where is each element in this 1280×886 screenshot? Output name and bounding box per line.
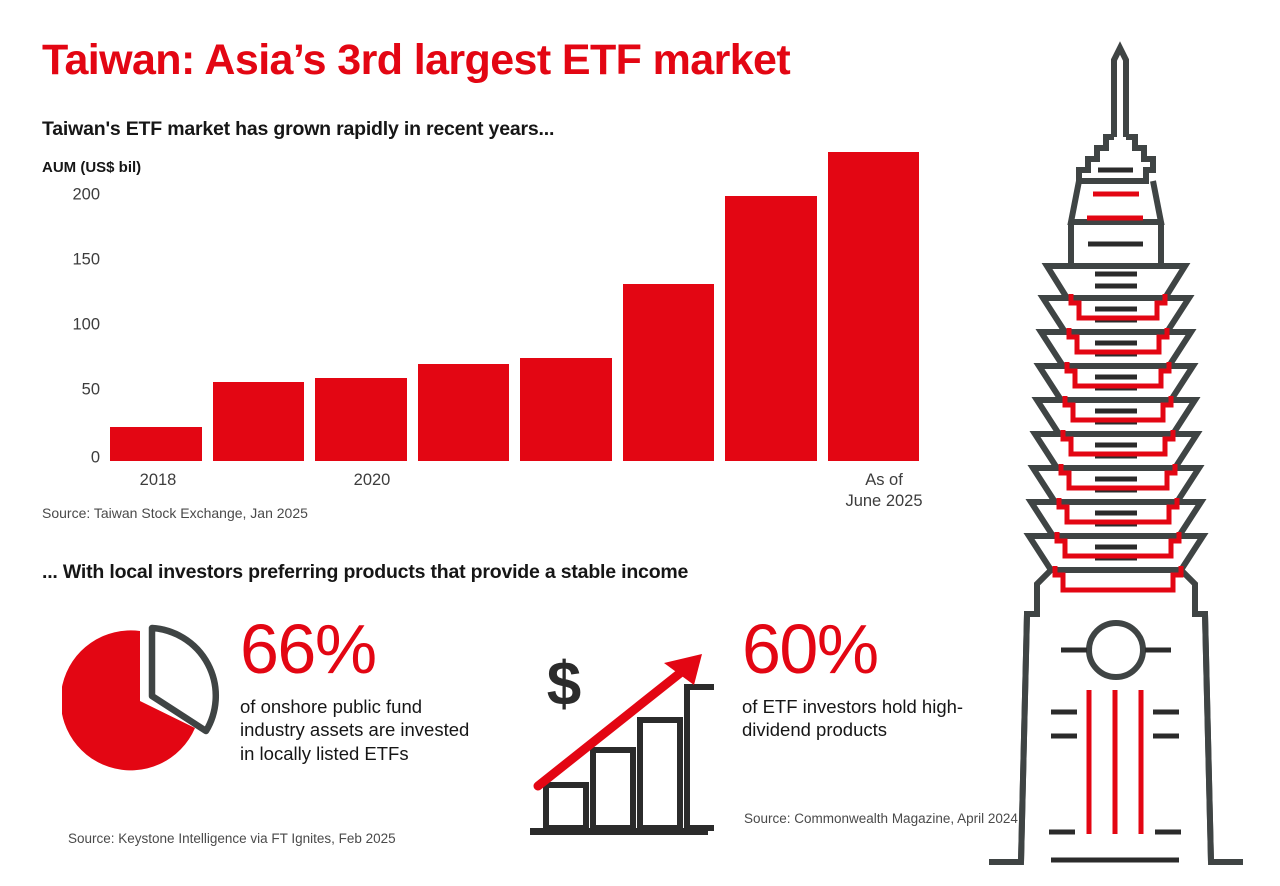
- stat-percent-66: 66%: [240, 616, 480, 683]
- stat-description-60: of ETF investors hold high-dividend prod…: [742, 695, 1002, 742]
- y-axis-title: AUM (US$ bil): [42, 159, 141, 176]
- stat-text-onshore-assets: 66% of onshore public fund industry asse…: [240, 616, 480, 766]
- tower-left-profile: [1021, 266, 1071, 862]
- infographic-page: Taiwan: Asia’s 3rd largest ETF market Ta…: [0, 0, 1280, 886]
- stat-text-high-dividend: 60% of ETF investors hold high-dividend …: [742, 616, 1002, 742]
- y-axis-tick-200: 200: [42, 186, 100, 205]
- y-axis-tick-0: 0: [42, 449, 100, 468]
- dollar-sign-icon: $: [547, 650, 581, 719]
- bar-2024: [725, 196, 817, 461]
- icon-bar-1: [546, 785, 586, 828]
- x-axis-tick-last-line1: As of: [820, 470, 948, 491]
- tower-base-circle: [1089, 623, 1143, 677]
- pie-chart-svg: [62, 618, 232, 788]
- stat-description-66: of onshore public fund industry assets a…: [240, 695, 480, 766]
- icon-bar-4: [687, 687, 714, 828]
- tower-spire: [1114, 48, 1126, 137]
- icon-bar-3: [640, 720, 680, 828]
- bar-2022: [520, 358, 612, 461]
- bar-2019: [213, 382, 305, 461]
- section-subtitle-income: ... With local investors preferring prod…: [42, 561, 688, 584]
- icon-bar-2: [593, 750, 633, 828]
- bar-as-of-june-2025: [828, 152, 920, 461]
- tower-base-red-lines: [1089, 690, 1141, 834]
- stat-percent-60: 60%: [742, 616, 1002, 683]
- bar-2021: [418, 364, 510, 461]
- stat-source-onshore-assets: Source: Keystone Intelligence via FT Ign…: [68, 830, 396, 848]
- aum-bar-chart: AUM (US$ bil) 200 150 100 50 0 2018 2020…: [0, 0, 980, 540]
- y-axis-tick-100: 100: [42, 316, 100, 335]
- tower-right-profile: [1161, 266, 1211, 862]
- bar-series: [110, 189, 930, 461]
- x-axis-tick-2020: 2020: [324, 470, 420, 491]
- bar-2023: [623, 284, 715, 461]
- tower-crown: [1079, 137, 1153, 181]
- bar-2020: [315, 378, 407, 461]
- y-axis-tick-50: 50: [42, 381, 100, 400]
- x-axis-tick-last-line2: June 2025: [820, 491, 948, 512]
- growth-arrow-dollar-icon: $: [524, 630, 714, 850]
- x-axis-tick-last: As of June 2025: [820, 470, 948, 511]
- chart-source-note: Source: Taiwan Stock Exchange, Jan 2025: [42, 505, 308, 521]
- bar-2018: [110, 427, 202, 461]
- pie-chart-onshore-assets: [62, 618, 232, 788]
- taipei-101-tower-illustration: [975, 22, 1275, 868]
- growth-chart-icon-svg: $: [524, 630, 714, 850]
- taipei-101-svg: [975, 22, 1275, 868]
- y-axis-tick-150: 150: [42, 251, 100, 270]
- chart-plot-area: 200 150 100 50 0: [42, 186, 932, 461]
- x-axis-tick-2018: 2018: [110, 470, 206, 491]
